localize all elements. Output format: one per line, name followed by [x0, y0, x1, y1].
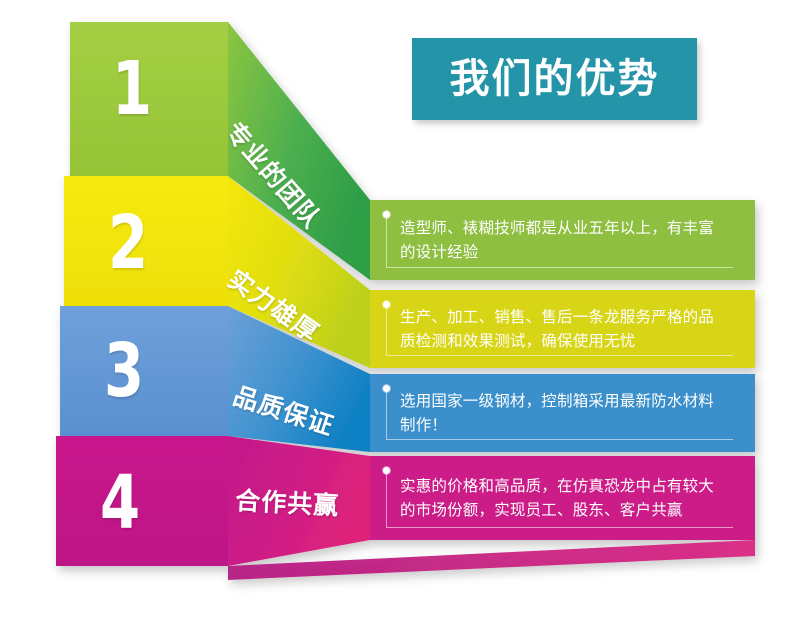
step-number-2: 2 — [108, 206, 148, 280]
description-text-2: 生产、加工、销售、售后一条龙服务严格的品质检测和效果测试，确保使用无忧 — [400, 305, 727, 353]
description-text-1: 造型师、裱糊技师都是从业五年以上，有丰富的设计经验 — [400, 216, 727, 264]
description-text-4: 实惠的价格和高品质，在仿真恐龙中占有较大的市场份额，实现员工、股东、客户共赢 — [400, 474, 727, 522]
bullet-dot-icon — [383, 211, 390, 218]
description-panel-3: 选用国家一级钢材，控制箱采用最新防水材料制作！ — [370, 374, 755, 452]
description-text-3: 选用国家一级钢材，控制箱采用最新防水材料制作！ — [400, 389, 727, 437]
infographic-canvas: 我们的优势 — [0, 0, 800, 622]
bullet-dot-icon — [383, 385, 390, 392]
description-panel-2: 生产、加工、销售、售后一条龙服务严格的品质检测和效果测试，确保使用无忧 — [370, 290, 755, 368]
bullet-dot-icon — [383, 467, 390, 474]
ribbon-label-4: 合作共赢 — [235, 488, 340, 518]
step-number-4: 4 — [100, 466, 140, 540]
bullet-dot-icon — [383, 301, 390, 308]
description-panel-4: 实惠的价格和高品质，在仿真恐龙中占有较大的市场份额，实现员工、股东、客户共赢 — [370, 456, 755, 540]
step-number-1: 1 — [112, 52, 152, 126]
step-number-3: 3 — [104, 334, 144, 408]
description-panel-1: 造型师、裱糊技师都是从业五年以上，有丰富的设计经验 — [370, 200, 755, 280]
